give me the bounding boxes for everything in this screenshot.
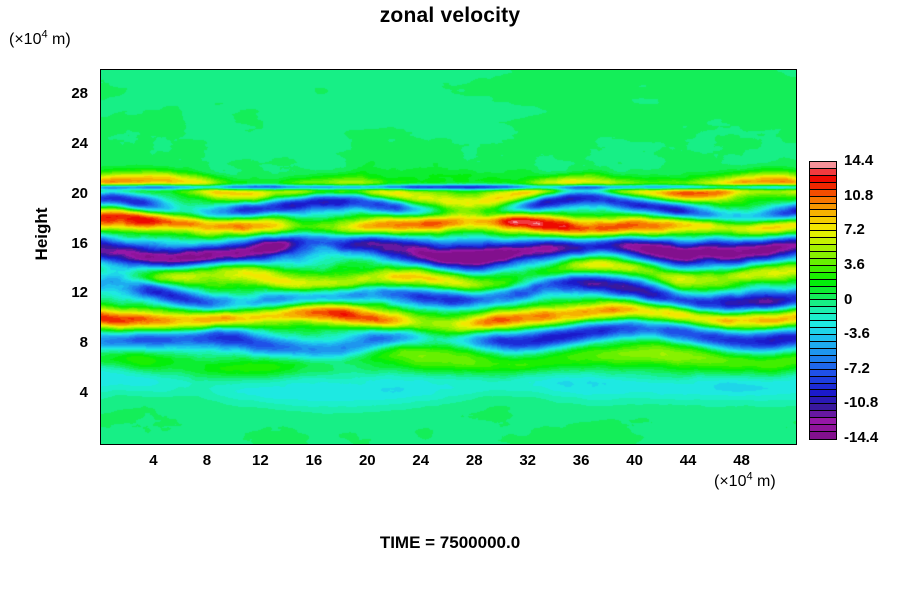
colorbar-band bbox=[810, 321, 836, 328]
colorbar-band bbox=[810, 300, 836, 307]
colorbar-band bbox=[810, 425, 836, 432]
y-axis-units-text: (×104 m) bbox=[9, 31, 71, 48]
colorbar-band bbox=[810, 294, 836, 301]
colorbar-band bbox=[810, 397, 836, 404]
colorbar-tick-label: -3.6 bbox=[844, 327, 870, 341]
y-tick-label: 20 bbox=[48, 187, 88, 201]
colorbar-band bbox=[810, 224, 836, 231]
y-axis-units-label: (×104 m) bbox=[9, 31, 71, 49]
x-tick-label: 44 bbox=[668, 454, 708, 468]
colorbar-band bbox=[810, 335, 836, 342]
colorbar-band bbox=[810, 210, 836, 217]
colorbar-band bbox=[810, 356, 836, 363]
colorbar-band bbox=[810, 314, 836, 321]
colorbar-band bbox=[810, 411, 836, 418]
colorbar-band bbox=[810, 252, 836, 259]
y-tick-label: 12 bbox=[48, 286, 88, 300]
colorbar-tick-label: 3.6 bbox=[844, 258, 865, 272]
x-tick-label: 24 bbox=[401, 454, 441, 468]
colorbar-band bbox=[810, 231, 836, 238]
velocity-heatmap-canvas[interactable] bbox=[101, 70, 796, 444]
colorbar-band bbox=[810, 245, 836, 252]
colorbar-band bbox=[810, 307, 836, 314]
colorbar-band bbox=[810, 266, 836, 273]
colorbar-band bbox=[810, 273, 836, 280]
colorbar-band bbox=[810, 183, 836, 190]
colorbar-band bbox=[810, 390, 836, 397]
y-tick-label: 16 bbox=[48, 237, 88, 251]
x-tick-label: 8 bbox=[187, 454, 227, 468]
colorbar-tick-label: 7.2 bbox=[844, 223, 865, 237]
colorbar-band bbox=[810, 377, 836, 384]
colorbar-band bbox=[810, 197, 836, 204]
colorbar-band bbox=[810, 217, 836, 224]
colorbar-band bbox=[810, 370, 836, 377]
colorbar-band bbox=[810, 342, 836, 349]
colorbar-tick-label: 10.8 bbox=[844, 189, 873, 203]
colorbar-band bbox=[810, 238, 836, 245]
colorbar-band bbox=[810, 190, 836, 197]
colorbar-band bbox=[810, 287, 836, 294]
colorbar-band bbox=[810, 384, 836, 391]
x-axis-units-label: (×104 m) bbox=[714, 473, 776, 491]
colorbar-band bbox=[810, 363, 836, 370]
x-tick-label: 28 bbox=[454, 454, 494, 468]
colorbar-band bbox=[810, 259, 836, 266]
page-title: zonal velocity bbox=[0, 4, 900, 28]
x-tick-label: 20 bbox=[347, 454, 387, 468]
x-tick-label: 12 bbox=[240, 454, 280, 468]
colorbar-band bbox=[810, 169, 836, 176]
x-tick-label: 4 bbox=[133, 454, 173, 468]
colorbar-band bbox=[810, 176, 836, 183]
colorbar-tick-label: -10.8 bbox=[844, 396, 878, 410]
colorbar-tick-label: -7.2 bbox=[844, 362, 870, 376]
x-tick-label: 36 bbox=[561, 454, 601, 468]
x-axis-units-text: (×104 m) bbox=[714, 473, 776, 490]
colorbar-band bbox=[810, 418, 836, 425]
y-tick-label: 8 bbox=[48, 336, 88, 350]
colorbar-band bbox=[810, 328, 836, 335]
colorbar-band bbox=[810, 349, 836, 356]
x-tick-label: 48 bbox=[722, 454, 762, 468]
x-tick-label: 32 bbox=[508, 454, 548, 468]
colorbar-tick-label: -14.4 bbox=[844, 431, 878, 445]
colorbar-band bbox=[810, 432, 836, 439]
y-tick-label: 4 bbox=[48, 386, 88, 400]
x-tick-label: 40 bbox=[615, 454, 655, 468]
colorbar[interactable] bbox=[809, 161, 837, 440]
time-caption: TIME = 7500000.0 bbox=[0, 533, 900, 553]
colorbar-band bbox=[810, 204, 836, 211]
plot-area[interactable] bbox=[100, 69, 797, 445]
y-tick-label: 24 bbox=[48, 137, 88, 151]
colorbar-tick-label: 0 bbox=[844, 293, 852, 307]
x-tick-label: 16 bbox=[294, 454, 334, 468]
colorbar-band bbox=[810, 280, 836, 287]
colorbar-band bbox=[810, 162, 836, 169]
colorbar-tick-label: 14.4 bbox=[844, 154, 873, 168]
colorbar-band bbox=[810, 404, 836, 411]
y-tick-label: 28 bbox=[48, 87, 88, 101]
